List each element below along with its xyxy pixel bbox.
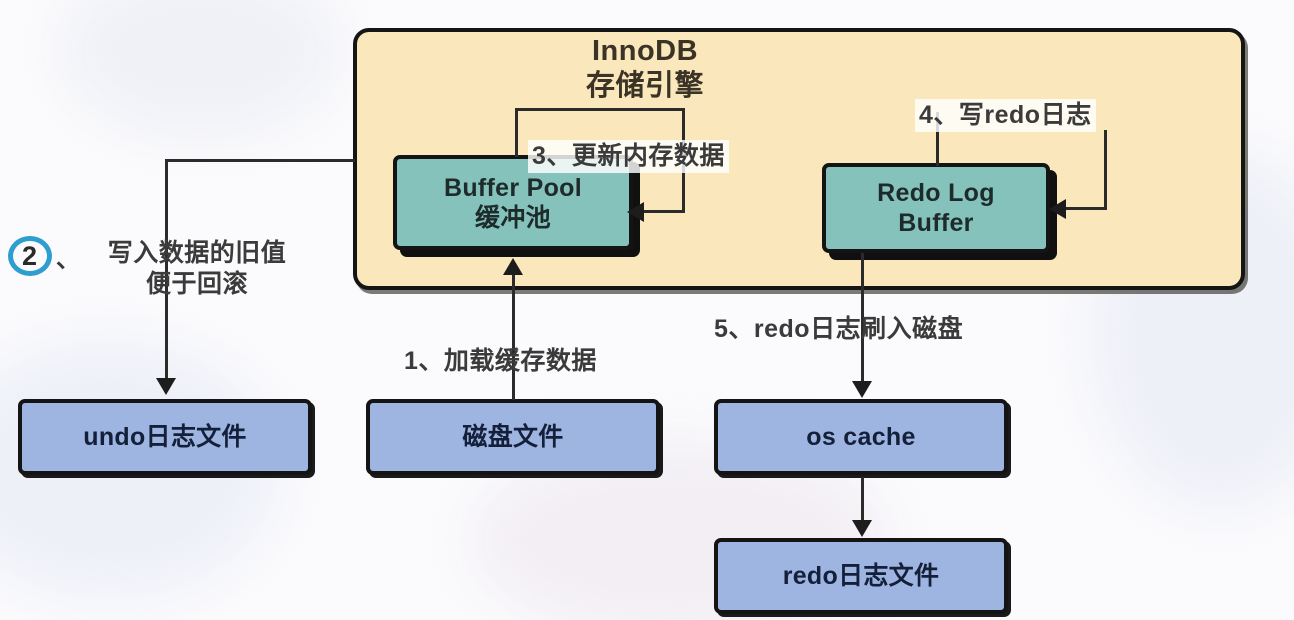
step1-arrowhead [503, 258, 523, 275]
step2-label: 写入数据的旧值 便于回滚 [78, 237, 316, 302]
redo-log-buffer-node[interactable]: Redo Log Buffer [822, 163, 1050, 253]
disk-file-node[interactable]: 磁盘文件 [366, 399, 660, 475]
diagram-canvas: InnoDB 存储引擎 Buffer Pool 缓冲池 Redo Log Buf… [0, 0, 1294, 620]
step3-arrowhead [627, 202, 644, 222]
step3-connector-in [641, 210, 685, 213]
step4-connector-in [1063, 207, 1107, 210]
step2-marker-label: 2 [18, 239, 42, 275]
redo-log-file-node[interactable]: redo日志文件 [714, 538, 1008, 614]
os-cache-node[interactable]: os cache [714, 399, 1008, 475]
innodb-engine-title: InnoDB 存储引擎 [495, 34, 795, 105]
step4-connector-down [1104, 130, 1107, 208]
step4-arrowhead [1049, 199, 1066, 219]
step4-label: 4、写redo日志 [915, 99, 1096, 132]
step5-arrowhead [852, 381, 872, 398]
undo-log-file-node[interactable]: undo日志文件 [18, 399, 312, 475]
step3-label: 3、更新内存数据 [528, 140, 729, 173]
oscache-to-redofile-arrowhead [852, 520, 872, 537]
background-blotch [60, 0, 340, 140]
step3-connector-top [515, 108, 685, 111]
step3-connector-up [515, 108, 518, 157]
step1-label: 1、加载缓存数据 [400, 345, 601, 378]
oscache-to-redofile-connector [861, 477, 864, 522]
step2-connector-top [165, 159, 355, 162]
step2-arrowhead [156, 378, 176, 395]
step1-connector [512, 275, 515, 400]
step5-label: 5、redo日志刷入磁盘 [710, 313, 967, 346]
